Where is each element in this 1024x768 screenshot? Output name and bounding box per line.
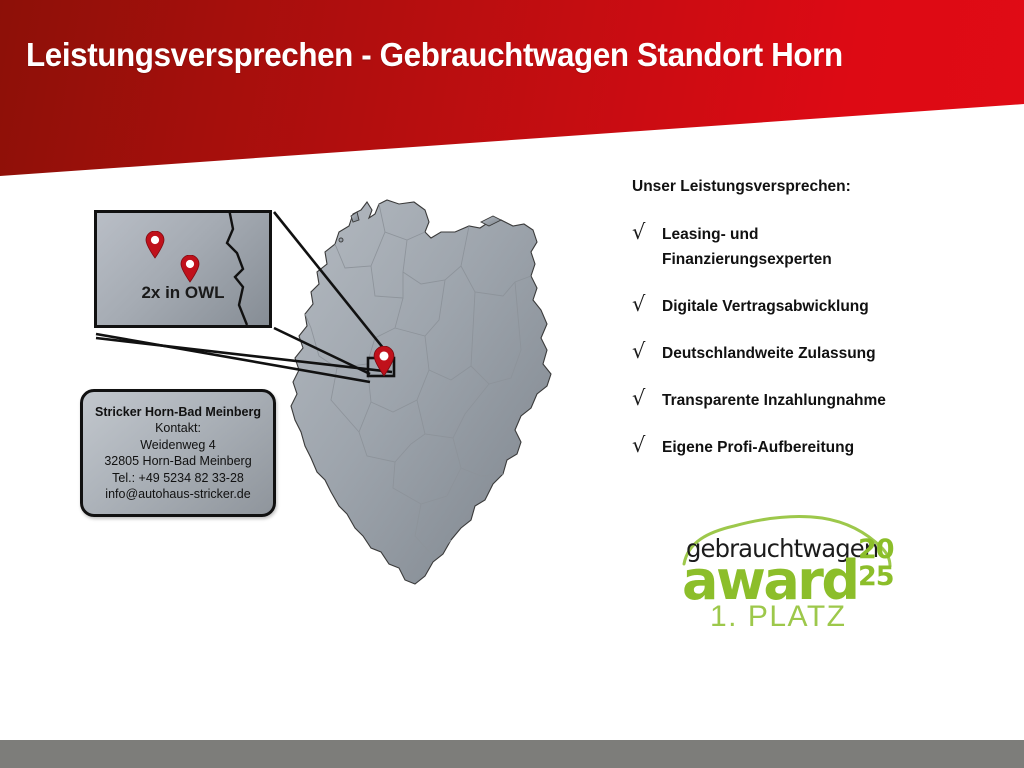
slide-root: Leistungsversprechen - Gebrauchtwagen St…: [0, 0, 1024, 768]
inset-label: 2x in OWL: [97, 283, 269, 303]
check-icon: √: [632, 222, 662, 243]
promise-item-label: Digitale Vertragsabwicklung: [662, 294, 869, 319]
contact-email: info@autohaus-stricker.de: [105, 486, 250, 503]
award-year-top: 20: [858, 536, 894, 563]
page-title: Leistungsversprechen - Gebrauchtwagen St…: [26, 36, 843, 74]
promise-item-label: Leasing- und Finanzierungsexperten: [662, 222, 832, 272]
map-pin-icon: [180, 255, 200, 283]
inset-map-box: 2x in OWL: [94, 210, 272, 328]
footer-bar: [0, 740, 1024, 768]
contact-line: Kontakt:: [155, 420, 201, 437]
contact-box: Stricker Horn-Bad Meinberg Kontakt: Weid…: [80, 389, 276, 517]
promise-item-label: Deutschlandweite Zulassung: [662, 341, 876, 366]
map-area: 2x in OWL Stricker Horn-Bad Meinberg Kon…: [0, 176, 620, 646]
promise-list: Unser Leistungsversprechen: √ Leasing- u…: [632, 178, 1012, 482]
promise-item: √ Eigene Profi-Aufbereitung: [632, 435, 1012, 460]
promise-item: √ Digitale Vertragsabwicklung: [632, 294, 1012, 319]
footer-logos: Horn Nutzfahrzeuge Service SKODA Service: [0, 648, 1024, 740]
promise-item: √ Deutschlandweite Zulassung: [632, 341, 1012, 366]
promise-item-label: Transparente Inzahlungnahme: [662, 388, 886, 413]
award-year: 20 25: [858, 536, 894, 590]
map-pin-icon: [145, 231, 165, 259]
contact-line: Tel.: +49 5234 82 33-28: [112, 470, 244, 487]
check-icon: √: [632, 435, 662, 456]
check-icon: √: [632, 294, 662, 315]
header-banner: [0, 0, 1024, 176]
check-icon: √: [632, 341, 662, 362]
contact-line: 32805 Horn-Bad Meinberg: [104, 453, 251, 470]
promise-item: √ Transparente Inzahlungnahme: [632, 388, 1012, 413]
promise-item: √ Leasing- und Finanzierungsexperten: [632, 222, 1012, 272]
contact-line: Weidenweg 4: [140, 437, 216, 454]
award-logo: gebrauchtwagen award 20 25 1. PLATZ: [672, 506, 908, 634]
map-pin-icon: [373, 346, 395, 377]
promise-item-label: Eigene Profi-Aufbereitung: [662, 435, 854, 460]
award-rank: 1. PLATZ: [710, 600, 846, 634]
check-icon: √: [632, 388, 662, 409]
award-year-bottom: 25: [858, 563, 894, 590]
promise-title: Unser Leistungsversprechen:: [632, 178, 1012, 196]
contact-line: Stricker Horn-Bad Meinberg: [95, 404, 261, 421]
